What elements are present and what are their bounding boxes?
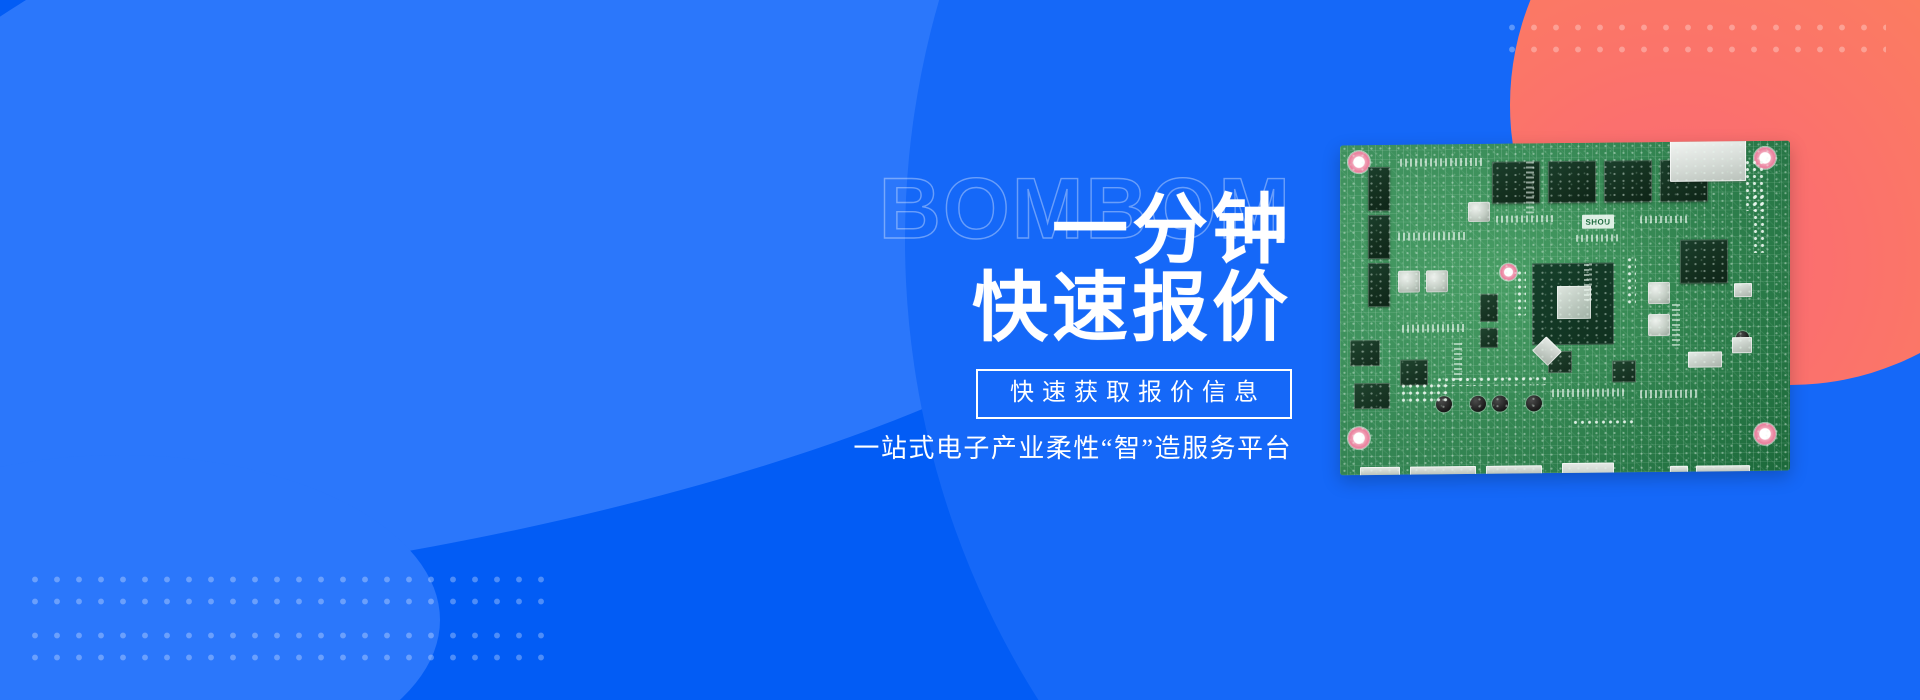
io-connector bbox=[1410, 466, 1476, 475]
smd-cluster bbox=[1526, 161, 1534, 213]
memory-chip bbox=[1604, 160, 1652, 203]
memory-chip bbox=[1492, 161, 1540, 204]
smd-cluster bbox=[1400, 158, 1484, 167]
inductor bbox=[1468, 202, 1490, 222]
promo-banner: BOMBOM 一分钟 快速报价 快速获取报价信息 一站式电子产业柔性“智”造服务… bbox=[0, 0, 1920, 700]
headline-line-1: 一分钟 bbox=[1052, 188, 1292, 273]
left-chip bbox=[1368, 215, 1390, 259]
smd-cluster bbox=[1454, 340, 1462, 380]
pin-header bbox=[1572, 418, 1634, 427]
mounting-hole bbox=[1348, 427, 1370, 449]
board-brand-badge: SHOU bbox=[1582, 214, 1614, 228]
inductor bbox=[1648, 282, 1670, 304]
page-title: 一分钟 快速报价 bbox=[853, 192, 1292, 347]
left-qfp-chip bbox=[1354, 383, 1390, 409]
via-array bbox=[1436, 375, 1546, 386]
metal-shield bbox=[1734, 283, 1752, 297]
pcb-board-image: SHOU bbox=[1340, 143, 1790, 473]
mounting-hole bbox=[1500, 264, 1517, 281]
dot-row bbox=[1501, 22, 1886, 33]
capacitor bbox=[1492, 396, 1508, 412]
smd-cluster bbox=[1398, 232, 1468, 241]
smd-cluster bbox=[1640, 216, 1690, 224]
smd-cluster bbox=[1576, 234, 1620, 241]
smd-cluster bbox=[1402, 324, 1466, 333]
metal-shield bbox=[1688, 351, 1722, 367]
io-connector bbox=[1360, 467, 1400, 476]
capacitor bbox=[1736, 331, 1749, 344]
dot-grid-top-right bbox=[1501, 22, 1886, 55]
memory-chip bbox=[1660, 160, 1708, 203]
flash-memory-chip bbox=[1680, 239, 1728, 284]
qfp-chip bbox=[1548, 351, 1572, 373]
inductor bbox=[1648, 314, 1670, 336]
banner-copy-block: BOMBOM 一分钟 快速报价 快速获取报价信息 一站式电子产业柔性“智”造服务… bbox=[0, 0, 1332, 700]
get-quote-button[interactable]: 快速获取报价信息 bbox=[976, 369, 1292, 419]
smd-cluster bbox=[1640, 390, 1700, 399]
left-chip bbox=[1368, 263, 1390, 307]
smd-cluster bbox=[1584, 261, 1592, 301]
mounting-hole bbox=[1754, 423, 1776, 445]
left-chip bbox=[1368, 167, 1390, 211]
mounting-hole bbox=[1348, 151, 1370, 173]
dot-row bbox=[1501, 44, 1886, 55]
capacitor bbox=[1526, 395, 1542, 411]
via-array bbox=[1400, 382, 1448, 405]
via-array bbox=[1752, 193, 1766, 253]
inductor bbox=[1426, 270, 1448, 292]
smd-cluster bbox=[1496, 215, 1556, 223]
banner-tagline: 一站式电子产业柔性“智”造服务平台 bbox=[853, 433, 1292, 466]
via-array bbox=[1626, 256, 1636, 304]
metal-shield bbox=[1532, 336, 1562, 366]
via-array bbox=[1516, 269, 1526, 315]
qfp-chip bbox=[1480, 294, 1498, 322]
smd-cluster bbox=[1672, 302, 1680, 346]
sim-card-slot bbox=[1670, 141, 1746, 182]
inductor bbox=[1398, 271, 1420, 293]
left-qfp-chip bbox=[1350, 340, 1380, 366]
headline-line-2: 快速报价 bbox=[853, 270, 1292, 348]
memory-chip bbox=[1548, 161, 1596, 204]
qfp-chip bbox=[1400, 359, 1428, 385]
capacitor bbox=[1470, 396, 1486, 412]
cpu-chip bbox=[1532, 262, 1614, 345]
metal-shield bbox=[1732, 337, 1752, 353]
sim-pin-row bbox=[1744, 159, 1766, 211]
pcb-substrate: SHOU bbox=[1340, 141, 1790, 476]
smd-cluster bbox=[1552, 388, 1624, 397]
qfp-chip bbox=[1480, 328, 1498, 348]
qfp-chip bbox=[1612, 360, 1636, 382]
capacitor bbox=[1436, 396, 1452, 412]
mounting-hole bbox=[1754, 147, 1776, 169]
cpu-heat-spreader bbox=[1557, 286, 1591, 319]
